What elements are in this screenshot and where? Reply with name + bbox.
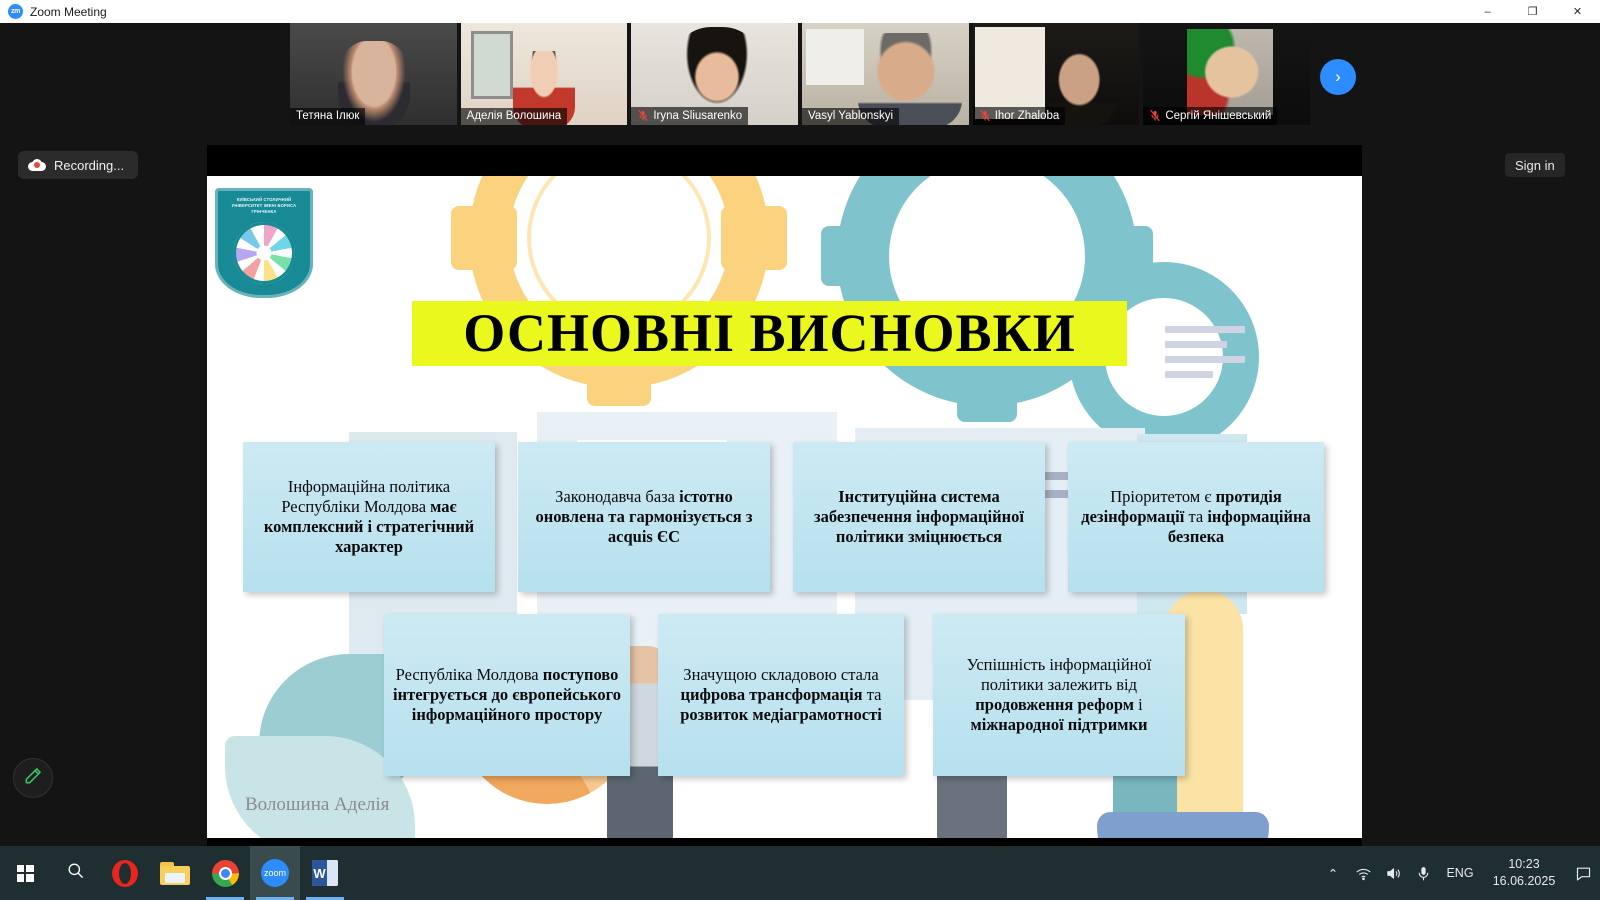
next-participants-button[interactable]: › [1320,59,1356,95]
clock-time: 10:23 [1508,856,1539,873]
chrome-button[interactable] [200,846,250,900]
conclusion-box-1-text: Інформаційна політика Республіки Молдова… [252,477,486,556]
conclusion-box-3: Інституційна система забезпечення інформ… [793,442,1045,592]
conclusion-box-2-text: Законодавча база істотно оновлена та гар… [527,487,761,546]
participant-tile[interactable]: Iryna Sliusarenko [631,23,798,125]
conclusion-box-3-text: Інституційна система забезпечення інформ… [802,487,1036,546]
minimize-button[interactable]: – [1465,0,1510,23]
conclusion-box-7-text: Успішність інформаційної політики залежи… [942,655,1176,734]
windows-logo-icon [17,865,34,882]
sign-in-button[interactable]: Sign in [1505,153,1565,177]
participant-filmstrip: Тетяна ІлюкАделія ВолошинаIryna Sliusare… [290,23,1310,125]
university-emblem-icon [233,222,295,284]
conclusion-box-2: Законодавча база істотно оновлена та гар… [518,442,770,592]
window-titlebar: zm Zoom Meeting – ❐ ✕ [0,0,1600,23]
windows-taskbar: zoom W ⌃ ENG 10:23 [0,846,1600,900]
participant-tile[interactable]: Vasyl Yablonskyi [802,23,969,125]
plant-pot [1097,812,1269,838]
word-button[interactable]: W [300,846,350,900]
participant-name: Vasyl Yablonskyi [808,110,893,122]
presentation-slide: КИЇВСЬКИЙ СТОЛИЧНИЙ УНІВЕРСИТЕТ ІМЕНІ БО… [207,176,1362,838]
recording-indicator[interactable]: Recording... [18,151,138,179]
zoom-meeting-window: Тетяна ІлюкАделія ВолошинаIryna Sliusare… [0,23,1600,846]
volume-icon[interactable] [1378,846,1408,900]
titlebar-left: zm Zoom Meeting [0,4,1465,19]
participant-name: Аделія Волошина [467,110,562,122]
window-title: Zoom Meeting [30,5,107,19]
clock-date: 16.06.2025 [1493,873,1556,890]
participant-name: Iryna Sliusarenko [653,110,742,122]
zoom-icon: zoom [261,859,289,887]
participant-tile[interactable]: Сергій Янішевський [1143,23,1310,125]
microphone-muted-icon [979,109,991,122]
participant-name: Тетяна Ілюк [296,110,359,122]
conclusion-box-4: Пріоритетом є протидія дезінформації та … [1068,442,1324,592]
recording-label: Recording... [54,158,124,173]
chart-lines-right [1165,326,1251,384]
participant-name: Сергій Янішевський [1165,110,1271,122]
conclusion-box-6: Значущою складовою стала цифрова трансфо… [658,614,904,776]
participant-namebar: Iryna Sliusarenko [631,107,748,125]
participant-namebar: Ihor Zhaloba [973,107,1066,125]
participant-namebar: Аделія Волошина [461,108,568,125]
participant-namebar: Сергій Янішевський [1143,107,1277,125]
conclusion-box-4-text: Пріоритетом є протидія дезінформації та … [1077,487,1315,546]
cloud-recording-icon [28,159,46,171]
zoom-app-icon: zm [8,4,23,19]
tray-expand-icon[interactable]: ⌃ [1318,846,1348,900]
opera-icon [112,860,138,887]
zoom-button[interactable]: zoom [250,846,300,900]
chrome-icon [212,860,239,887]
maximize-button[interactable]: ❐ [1510,0,1555,23]
slide-author: Волошина Аделія [245,794,389,816]
university-logo: КИЇВСЬКИЙ СТОЛИЧНИЙ УНІВЕРСИТЕТ ІМЕНІ БО… [215,188,313,298]
slide-title: ОСНОВНІ ВИСНОВКИ [412,301,1127,366]
conclusion-box-1: Інформаційна політика Республіки Молдова… [243,442,495,592]
annotate-button[interactable] [13,758,53,798]
language-indicator[interactable]: ENG [1438,846,1482,900]
start-button[interactable] [0,846,50,900]
shared-screen-area: КИЇВСЬКИЙ СТОЛИЧНИЙ УНІВЕРСИТЕТ ІМЕНІ БО… [207,145,1362,870]
participant-namebar: Тетяна Ілюк [290,108,365,125]
conclusion-box-7: Успішність інформаційної політики залежи… [933,614,1185,776]
conclusion-box-6-text: Значущою складовою стала цифрова трансфо… [667,665,895,724]
participant-namebar: Vasyl Yablonskyi [802,108,899,125]
folder-icon [160,862,190,885]
microphone-muted-icon [1149,109,1161,122]
clock[interactable]: 10:23 16.06.2025 [1482,846,1566,900]
close-button[interactable]: ✕ [1555,0,1600,23]
search-button[interactable] [50,846,100,900]
participant-tile[interactable]: Ihor Zhaloba [973,23,1140,125]
file-explorer-button[interactable] [150,846,200,900]
participant-tile[interactable]: Аделія Волошина [461,23,628,125]
microphone-muted-icon [637,109,649,122]
system-tray: ⌃ ENG 10:23 16.06.2025 [1318,846,1600,900]
window-controls: – ❐ ✕ [1465,0,1600,23]
notifications-button[interactable] [1566,846,1600,900]
wifi-icon[interactable] [1348,846,1378,900]
conclusion-box-5-text: Республіка Молдова поступово інтегруєтьс… [393,665,621,724]
search-icon [66,861,85,885]
microphone-icon[interactable] [1408,846,1438,900]
participant-name: Ihor Zhaloba [995,110,1060,122]
participant-tile[interactable]: Тетяна Ілюк [290,23,457,125]
university-logo-text: КИЇВСЬКИЙ СТОЛИЧНИЙ УНІВЕРСИТЕТ ІМЕНІ БО… [221,197,307,215]
pen-icon [23,766,43,791]
word-icon: W [312,860,338,886]
conclusion-box-5: Республіка Молдова поступово інтегруєтьс… [384,614,630,776]
opera-button[interactable] [100,846,150,900]
